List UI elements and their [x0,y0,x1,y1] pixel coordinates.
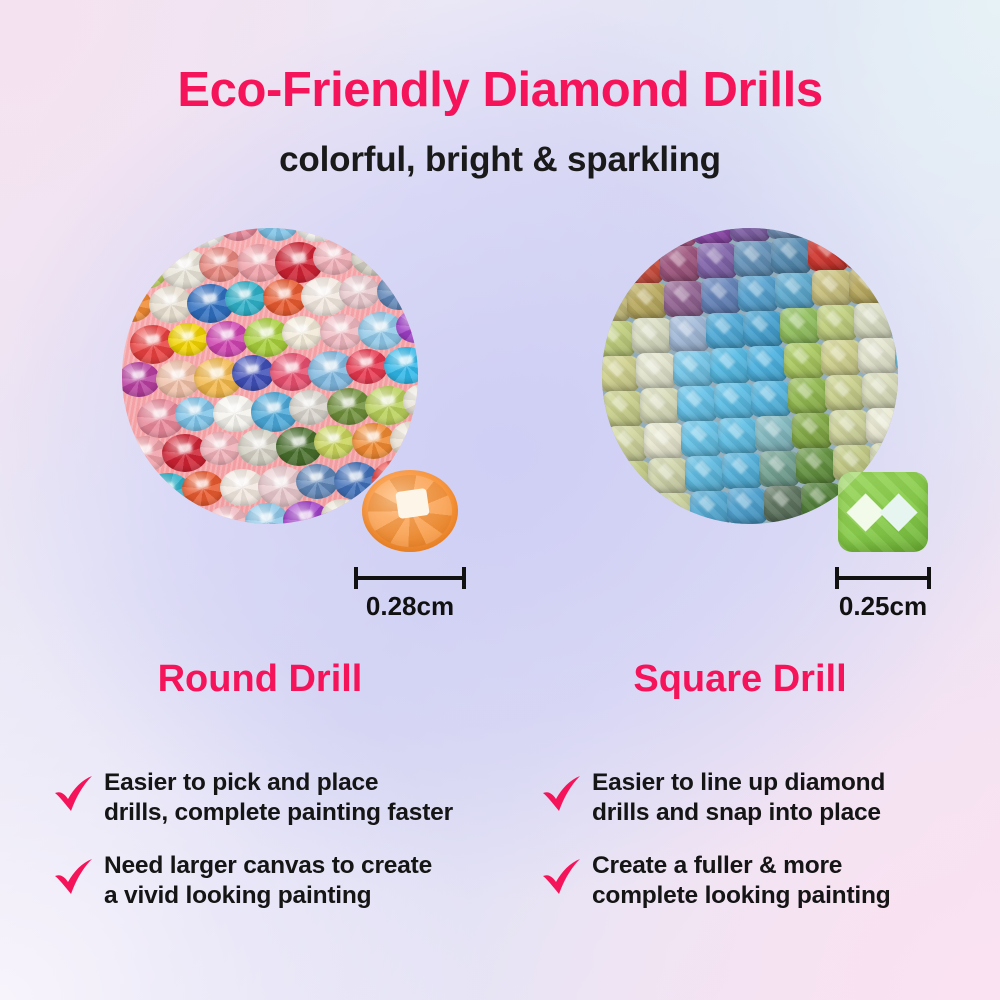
square-drill-tile [812,270,852,306]
square-drill-tile [714,383,754,419]
round-drill-feature-list: Easier to pick and place drills, complet… [52,768,522,934]
square-drill-tile [718,418,758,454]
square-drill-tile [681,421,721,457]
square-drill-tile [730,228,770,242]
square-drill-tile [611,461,651,497]
green-square-drill-closeup [838,472,928,552]
page-subtitle: colorful, bright & sparkling [0,140,1000,180]
square-drill-tile [882,230,898,266]
check-icon [540,855,586,901]
list-item: Easier to line up diamond drills and sna… [540,768,990,829]
square-drill-tile [764,486,804,522]
round-drill-bead [289,390,330,424]
square-drill-tile [821,340,861,376]
round-drill-photo [122,228,418,524]
round-drill-bead [339,275,380,309]
check-icon [52,855,98,901]
ruler-bar [835,576,931,580]
round-drill-bead [238,429,281,465]
square-drill-measurement: 0.25cm [839,591,927,622]
square-drill-tile [775,273,815,309]
square-drill-tile [669,316,709,352]
round-drill-bead [182,471,224,506]
square-drill-tile [891,300,898,336]
round-drill-bead [346,349,388,384]
list-item-label: Create a fuller & more complete looking … [592,851,891,912]
square-drill-tile [648,458,688,494]
square-drill-heading: Square Drill [480,658,1000,701]
square-drill-tile [755,416,795,452]
square-drill-tile [656,228,696,247]
square-drill-tile [743,311,783,347]
round-drill-heading: Round Drill [0,658,520,701]
list-item-label: Easier to pick and place drills, complet… [104,768,453,829]
round-drill-bead [225,281,266,315]
list-item: Need larger canvas to create a vivid loo… [52,851,522,912]
round-drill-bead [320,314,363,350]
round-drill-bead [282,316,322,350]
list-item-label: Easier to line up diamond drills and sna… [592,768,885,829]
square-drill-tile [664,281,704,317]
square-drill-tile [829,410,869,446]
square-drill-tile [771,238,811,274]
ruler-cap-left [354,567,358,589]
square-drill-tile [677,386,717,422]
ruler-cap-right [927,567,931,589]
square-drill-tile [710,348,750,384]
round-drill-highlight [395,488,429,519]
square-drill-tile [602,286,630,322]
square-drill-tile [727,488,767,524]
square-drill-tile [895,335,898,371]
round-drill-bead [314,425,354,459]
square-drill-tile [603,391,643,427]
square-drill-tile [792,413,832,449]
ruler-cap-left [835,567,839,589]
square-drill-tile [722,453,762,489]
square-drill-tile [866,408,898,444]
square-drill-tile [845,233,885,269]
square-drill-tile [801,483,841,519]
square-drill-tile [627,283,667,319]
square-drill-tile [693,228,733,244]
list-item: Easier to pick and place drills, complet… [52,768,522,829]
square-drill-tile [825,375,865,411]
ruler-cap-right [462,567,466,589]
square-drill-tile [759,451,799,487]
round-drill-bead [175,397,216,431]
round-drill-bead [377,273,418,310]
square-drill-tile [780,308,820,344]
round-drill-bead [296,464,338,499]
round-drill-bead [206,321,249,357]
square-drill-tile [849,268,889,304]
round-drill-measurement: 0.28cm [366,591,454,622]
round-drill-bead [199,247,241,282]
square-drill-tile [623,248,663,284]
square-drill-tile [632,318,672,354]
square-drill-tile [796,448,836,484]
round-drill-bead [232,355,274,390]
square-drill-tile [738,276,778,312]
square-drill-tile [607,426,647,462]
square-drill-tile [690,491,730,524]
square-drill-tile [747,346,787,382]
square-drill-tile [685,456,725,492]
square-drill-tile [784,343,824,379]
square-drill-tile [697,243,737,279]
square-drill-tile [644,423,684,459]
square-drill-tile [808,235,848,271]
square-drill-tile [619,228,659,249]
square-drill-feature-list: Easier to line up diamond drills and sna… [540,768,990,934]
square-drill-tile [640,388,680,424]
list-item-label: Need larger canvas to create a vivid loo… [104,851,432,912]
round-drill-bead [352,423,395,459]
check-icon [540,772,586,818]
orange-round-drill-closeup [362,470,458,552]
square-drill-tile [854,303,894,339]
square-drill-tile [616,496,656,524]
square-drill-tile [660,246,700,282]
page-title: Eco-Friendly Diamond Drills [0,62,1000,118]
square-drill-tile [636,353,676,389]
square-drill-tile [751,381,791,417]
square-drill-tile [706,313,746,349]
square-drill-tile [602,356,639,392]
square-drill-tile [701,278,741,314]
square-drill-tile [858,338,898,374]
square-drill-tile [817,305,857,341]
square-drill-tile [653,493,693,524]
square-drill-tile [886,265,898,301]
square-drill-tile [862,373,898,409]
check-icon [52,772,98,818]
square-drill-tile [602,321,635,357]
list-item: Create a fuller & more complete looking … [540,851,990,912]
square-drill-tile [788,378,828,414]
square-drill-tile [734,241,774,277]
square-drill-tile [673,351,713,387]
ruler-bar [354,576,466,580]
